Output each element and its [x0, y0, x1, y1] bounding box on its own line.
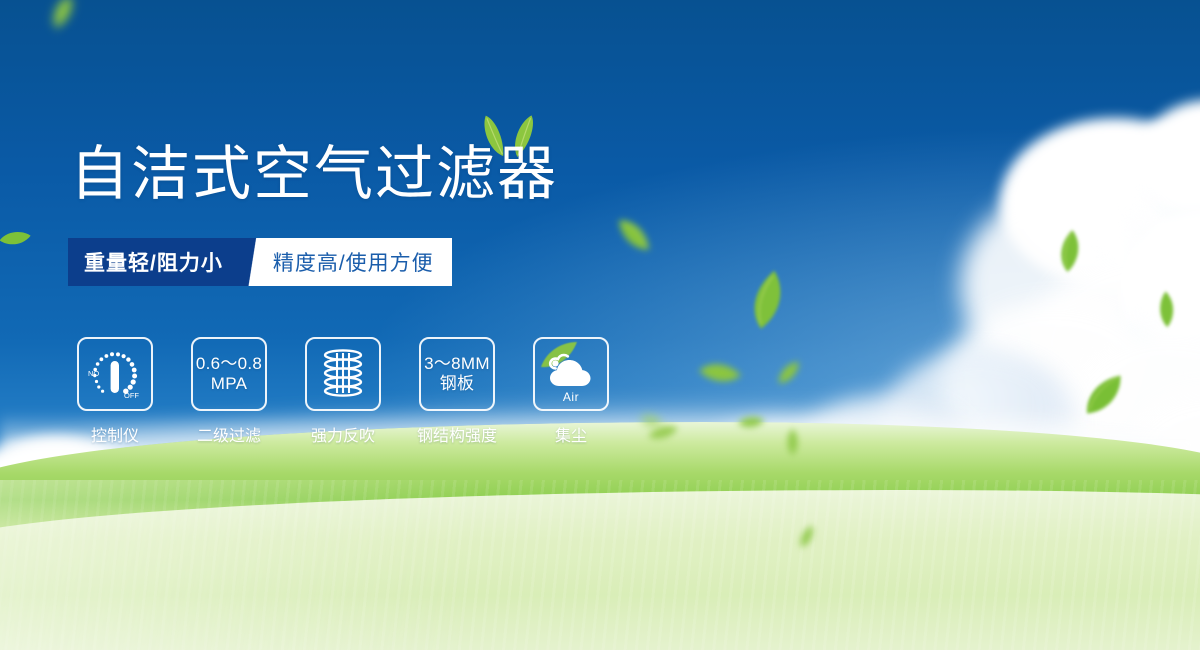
feature-icon-box: 3～8MM 钢板	[419, 337, 495, 411]
feature-icon-box: Air	[533, 337, 609, 411]
page-title: 自洁式空气过滤器	[70, 145, 558, 204]
tagline-bar: 重量轻/阻力小 精度高/使用方便	[68, 238, 452, 286]
feature-text-line-2: 钢板	[440, 374, 475, 394]
tagline-left: 重量轻/阻力小	[68, 238, 241, 286]
gauge-mark-no: NO	[88, 369, 99, 378]
feature-label: 钢结构强度	[417, 422, 497, 446]
gauge-icon: NO OFF	[82, 345, 148, 403]
feature-label: 二级过滤	[197, 422, 261, 446]
feature-list: NO OFF 控制仪 0.6～0.8 MPA 二级过滤	[74, 337, 612, 446]
feature-icon-box	[305, 337, 381, 411]
gauge-mark-off: OFF	[124, 391, 139, 400]
feature-item-backblow[interactable]: 强力反吹	[302, 337, 384, 446]
feature-icon-box: NO OFF	[77, 337, 153, 411]
feature-text-line-2: MPA	[211, 374, 247, 394]
coil-filter-icon	[315, 346, 371, 402]
banner-stage: 自洁式空气过滤器 重量轻/阻力小 精度高/使用方便	[0, 0, 1200, 650]
feature-label: 集尘	[555, 422, 587, 446]
feature-label: 控制仪	[91, 422, 139, 446]
tagline-right: 精度高/使用方便	[267, 238, 452, 286]
cloud-caption: Air	[535, 390, 607, 404]
tagline-divider	[241, 238, 267, 286]
feature-item-dust-collection[interactable]: Air 集尘	[530, 337, 612, 446]
grass-texture	[0, 480, 1200, 650]
feature-item-control-gauge[interactable]: NO OFF 控制仪	[74, 337, 156, 446]
cloud-icon	[542, 350, 600, 390]
feature-item-two-stage-filter[interactable]: 0.6～0.8 MPA 二级过滤	[188, 337, 270, 446]
feature-item-steel-strength[interactable]: 3～8MM 钢板 钢结构强度	[416, 337, 498, 446]
feature-label: 强力反吹	[311, 422, 375, 446]
feature-text-line-1: 0.6～0.8	[196, 354, 262, 374]
feature-icon-box: 0.6～0.8 MPA	[191, 337, 267, 411]
feature-text-line-1: 3～8MM	[424, 354, 490, 374]
